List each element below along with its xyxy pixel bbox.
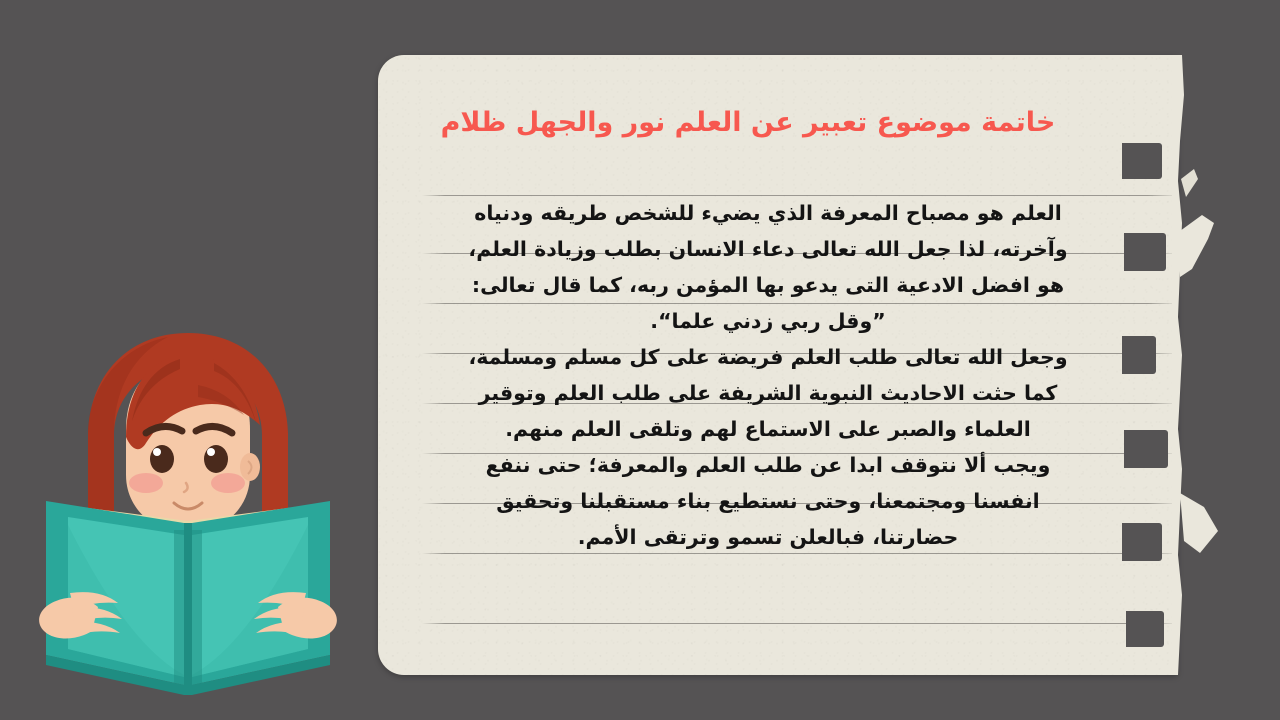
paragraph-3: ويجب ألا نتوقف ابدا عن طلب العلم والمعرف…	[418, 447, 1118, 555]
paragraph-line: انفسنا ومجتمعنا، وحتى نستطيع بناء مستقبل…	[418, 483, 1118, 519]
paper-sheet: خاتمة موضوع تعبير عن العلم نور والجهل ظل…	[378, 55, 1178, 675]
perforation-notch	[1124, 233, 1166, 271]
perforation-notch	[1122, 143, 1162, 179]
document-title: خاتمة موضوع تعبير عن العلم نور والجهل ظل…	[378, 107, 1118, 139]
paragraph-line: وآخرته، لذا جعل الله تعالى دعاء الانسان …	[418, 231, 1118, 267]
paragraph-line: هو افضل الادعية التى يدعو بها المؤمن ربه…	[418, 267, 1118, 303]
slide-canvas: خاتمة موضوع تعبير عن العلم نور والجهل ظل…	[0, 0, 1280, 720]
paragraph-line: العلماء والصبر على الاستماع لهم وتلقى ال…	[418, 411, 1118, 447]
paragraph-line: وجعل الله تعالى طلب العلم فريضة على كل م…	[418, 339, 1118, 375]
paragraph-line: ”وقل ربي زدني علما“.	[418, 303, 1118, 339]
paragraph-line: كما حثت الاحاديث النبوية الشريفة على طلب…	[418, 375, 1118, 411]
paragraph-line: العلم هو مصباح المعرفة الذي يضيء للشخص ط…	[418, 195, 1118, 231]
torn-paper-edge	[1122, 55, 1182, 675]
perforation-notch	[1122, 523, 1162, 561]
girl-reading-illustration	[28, 325, 348, 695]
perforation-notch	[1126, 611, 1164, 647]
paragraph-line: حضارتنا، فبالعلن تسمو وترتقى الأمم.	[418, 519, 1118, 555]
perforation-notch	[1122, 336, 1156, 374]
torn-edge-strip	[1122, 55, 1242, 675]
paragraph-line: ويجب ألا نتوقف ابدا عن طلب العلم والمعرف…	[418, 447, 1118, 483]
document-body: العلم هو مصباح المعرفة الذي يضيء للشخص ط…	[418, 195, 1118, 555]
paragraph-1: العلم هو مصباح المعرفة الذي يضيء للشخص ط…	[418, 195, 1118, 339]
paragraph-2: وجعل الله تعالى طلب العلم فريضة على كل م…	[418, 339, 1118, 447]
perforation-notch	[1124, 430, 1168, 468]
